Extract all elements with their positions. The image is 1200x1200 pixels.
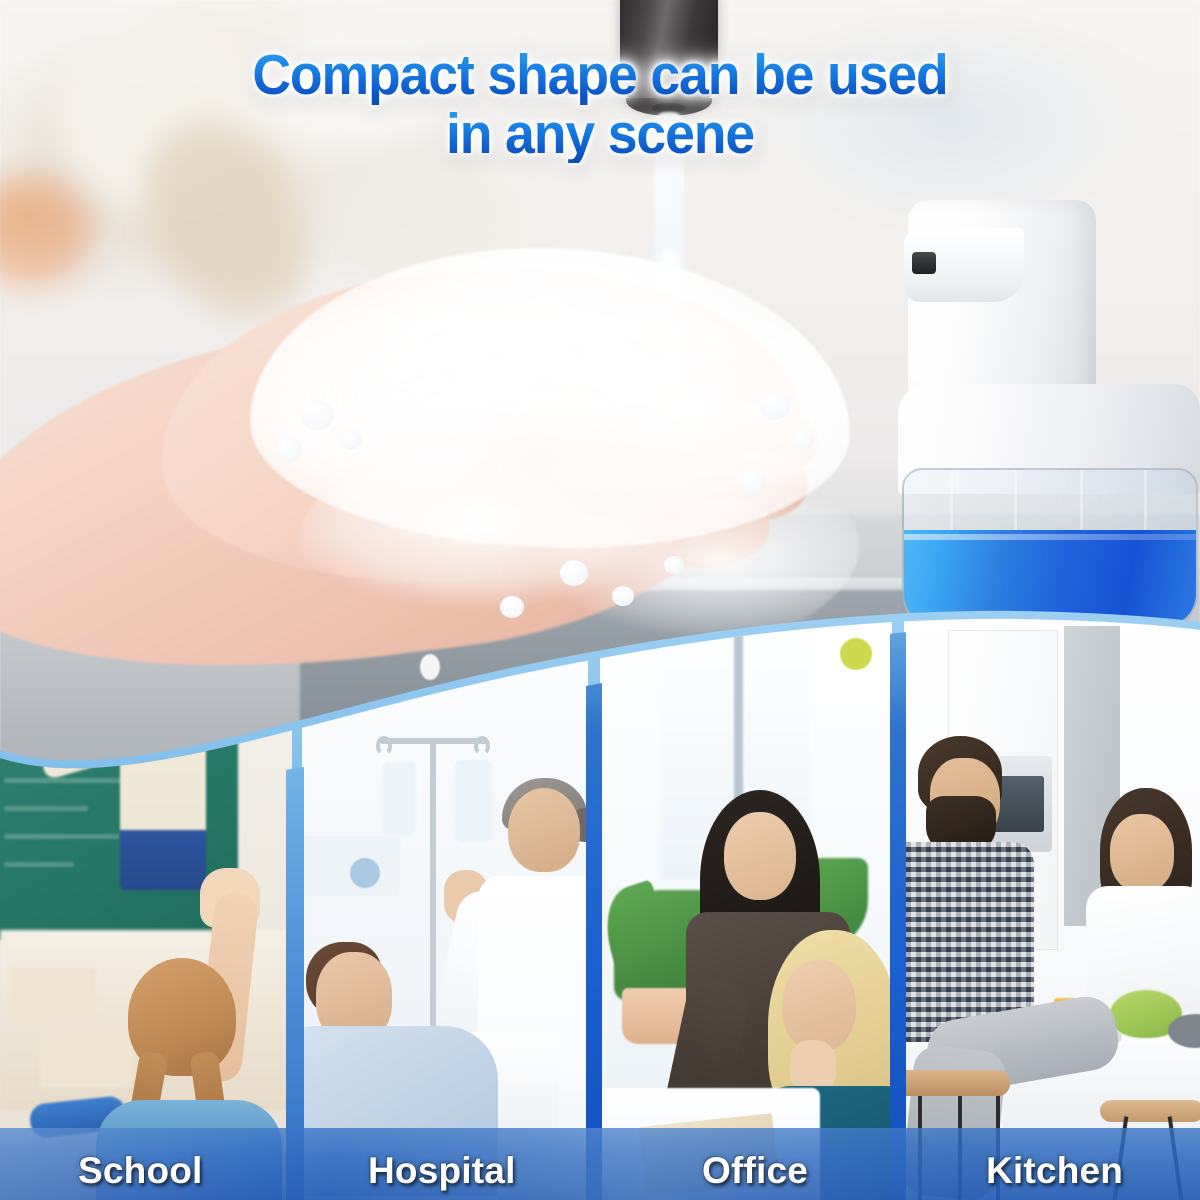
doctor-head [508, 788, 580, 872]
kitchen-woman-face [1110, 814, 1174, 892]
foam-bubble [560, 560, 588, 586]
wall-chart-marker [840, 638, 872, 670]
bar-stool-seat [904, 1070, 1010, 1096]
headline-line-1-text: Compact shape can be used [252, 46, 947, 105]
label-kitchen: Kitchen [986, 1150, 1123, 1192]
foam-bubble [792, 430, 814, 450]
headline-line-1: Compact shape can be used [36, 46, 1164, 105]
usage-scenes-section: School Hospital Office Kitchen [0, 600, 1200, 1200]
foam-bubble [340, 430, 362, 450]
panel-divider-2 [586, 600, 602, 1200]
iv-bag [382, 762, 416, 836]
desk [40, 1030, 132, 1088]
label-school: School [78, 1150, 203, 1192]
iv-pole [430, 742, 436, 1032]
chalk-mark [4, 834, 120, 839]
wall-gauge [350, 858, 380, 888]
panel-divider-3 [890, 600, 906, 1200]
product-marketing-image: School Hospital Office Kitchen Compact s… [0, 0, 1200, 1200]
panel-kitchen-image [904, 600, 1200, 1200]
dispenser-nozzle [912, 252, 936, 274]
label-office: Office [702, 1150, 808, 1192]
panel-divider-1 [286, 600, 304, 1200]
iv-hook-left [376, 736, 392, 756]
headline-line-2: in any scene [36, 105, 1164, 164]
panel-kitchen[interactable] [904, 600, 1200, 1200]
foam-bubble [300, 400, 334, 430]
foam-bubble [760, 392, 790, 420]
foam-bubble [664, 556, 684, 574]
soap-liquid-surface [904, 534, 1196, 540]
seated-woman-face [782, 960, 856, 1052]
headline: Compact shape can be used in any scene [36, 46, 1164, 163]
foam-bubble [740, 470, 766, 494]
desk [10, 968, 96, 1020]
iv-bag [454, 760, 492, 842]
second-stool-seat [1100, 1100, 1200, 1122]
panel-school[interactable] [0, 600, 292, 1200]
iv-hook-right [474, 736, 490, 756]
panel-school-image [0, 600, 292, 1200]
scene-labels: School Hospital Office Kitchen [0, 1128, 1200, 1200]
chalk-mark [4, 750, 104, 755]
chalk-mark [4, 862, 74, 867]
label-hospital: Hospital [368, 1150, 516, 1192]
panel-office[interactable] [600, 600, 892, 1200]
chalk-mark [4, 778, 134, 783]
standing-woman-face [724, 812, 796, 900]
chalk-mark [4, 806, 88, 811]
soap-dispenser-product [898, 196, 1200, 626]
headline-line-2-text: in any scene [446, 105, 754, 164]
foam-bubble [276, 438, 302, 462]
panel-office-image [600, 600, 892, 1200]
